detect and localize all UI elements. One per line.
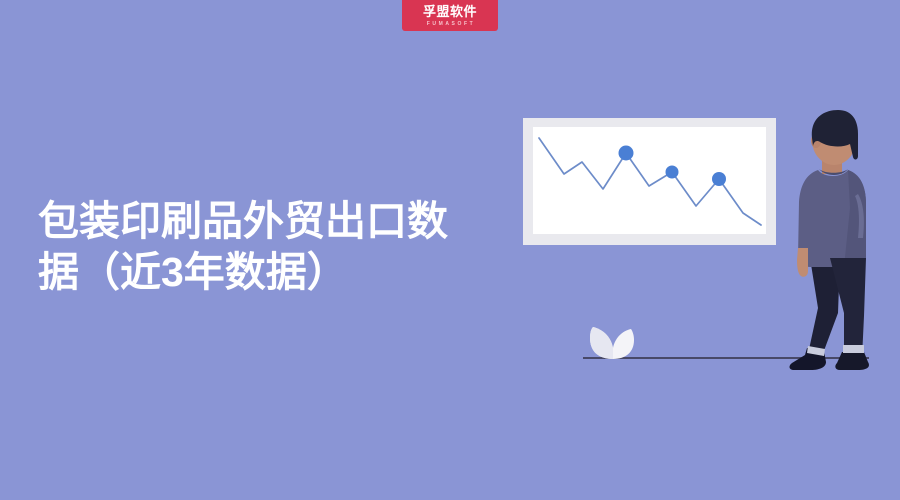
standing-man-illustration [778, 108, 890, 378]
person-front-sock [843, 345, 864, 353]
line-chart-graphic [533, 127, 766, 234]
page-title-line-1: 包装印刷品外贸出口数 [38, 196, 508, 247]
page-title-line-2: 据（近3年数据） [38, 247, 508, 298]
person-hand [797, 248, 808, 277]
chart-panel [533, 127, 766, 234]
chart-marker-1 [619, 146, 634, 161]
leaf-icon [588, 326, 638, 359]
promo-banner: 孚盟软件 FUMASOFT 包装印刷品外贸出口数 据（近3年数据） [0, 0, 900, 500]
logo-chinese-text: 孚盟软件 [423, 5, 477, 19]
chart-marker-2 [666, 166, 679, 179]
chart-marker-3 [712, 172, 726, 186]
fumasoft-logo: 孚盟软件 FUMASOFT [402, 0, 498, 31]
person-front-shoe [835, 352, 869, 370]
chart-trend-line [539, 138, 761, 225]
page-title: 包装印刷品外贸出口数 据（近3年数据） [38, 196, 508, 298]
chart-frame [523, 118, 776, 245]
logo-english-text: FUMASOFT [425, 20, 476, 28]
